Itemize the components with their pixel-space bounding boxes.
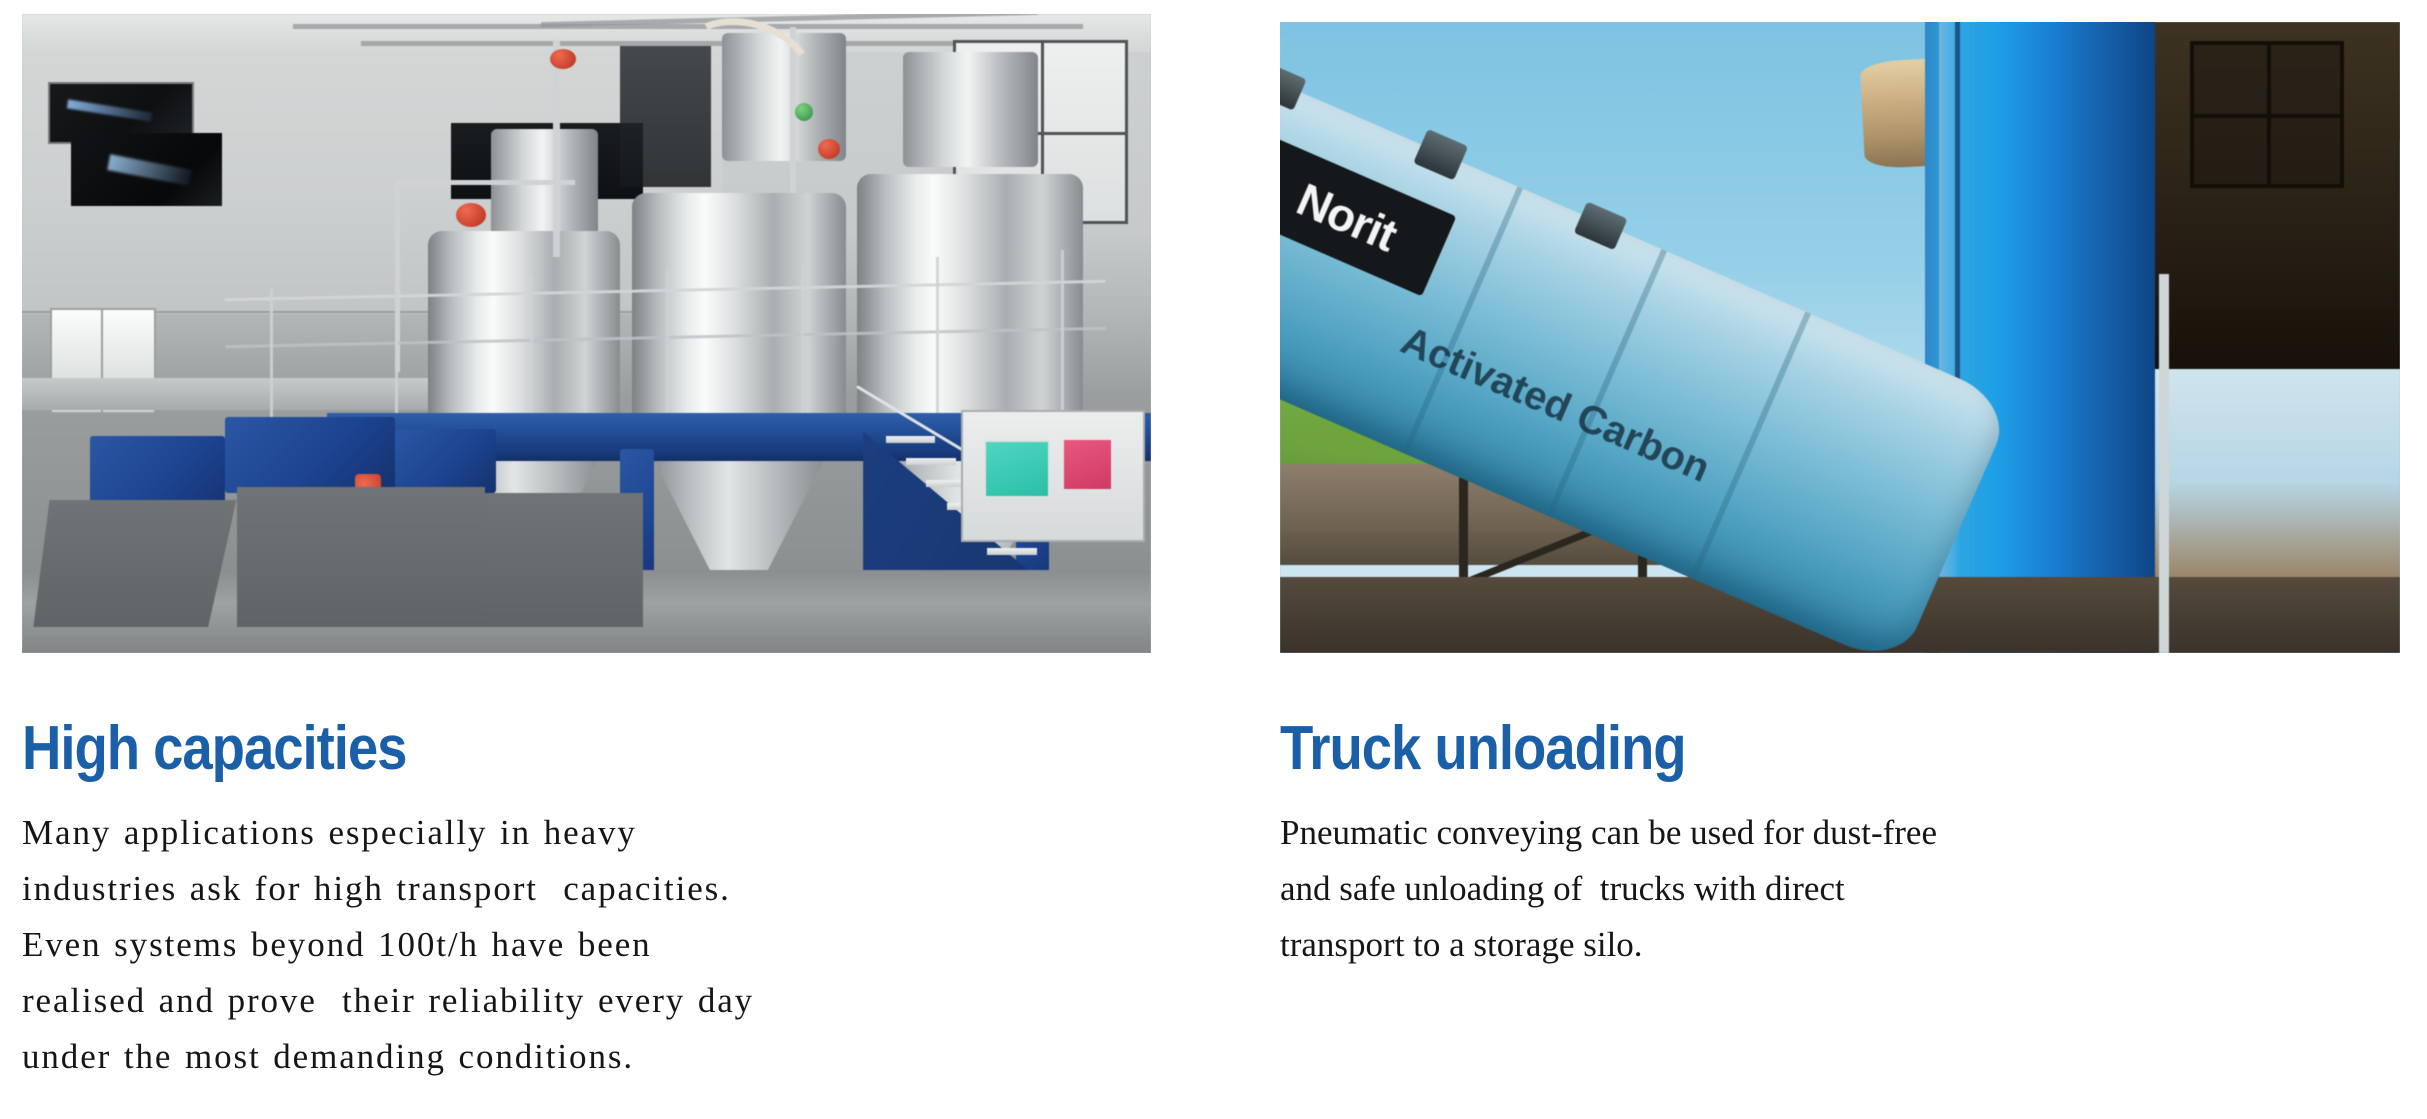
photo-truck-unloading: Norit Activated Carbon (1280, 22, 2400, 653)
railing-post-6 (936, 257, 939, 417)
feature-blocks-page: High capacities Many applications especi… (0, 0, 2427, 1119)
railing-post-2 (395, 282, 398, 423)
paragraph-line: industries ask for high transport capaci… (22, 861, 1082, 917)
floor-hopper-2 (237, 487, 485, 628)
blue-equipment-box-3 (395, 429, 497, 493)
paragraph-line: transport to a storage silo. (1280, 917, 2320, 973)
paragraph-line: realised and prove their reliability eve… (22, 973, 1082, 1029)
paragraph-high-capacities: Many applications especially in heavy in… (22, 805, 1082, 1085)
photo-high-capacities-content (22, 14, 1151, 653)
stair-step-2 (906, 458, 956, 465)
railing-post-1 (270, 289, 273, 430)
floor-hopper-3 (485, 493, 643, 627)
horizontal-pipe-1 (395, 180, 576, 185)
mezzanine-slab (22, 378, 474, 410)
red-valve-1 (456, 203, 486, 227)
railing-post-5 (801, 263, 804, 416)
stair-step-6 (987, 548, 1037, 555)
feature-column-high-capacities: High capacities Many applications especi… (22, 0, 1151, 1119)
photo-high-capacities (22, 14, 1151, 653)
vertical-pipe-1 (553, 40, 560, 257)
railing-post-7 (1061, 250, 1064, 416)
control-panel-red-label (1064, 440, 1111, 489)
grid-window-right (2190, 41, 2344, 188)
photo-truck-unloading-content: Norit Activated Carbon (1280, 22, 2400, 653)
ceiling-beam-1 (293, 24, 1083, 29)
red-valve-3 (818, 139, 840, 159)
railing-post-3 (530, 276, 533, 417)
control-panel (961, 410, 1146, 542)
control-panel-screen (984, 440, 1049, 498)
paragraph-line: under the most demanding conditions. (22, 1029, 1082, 1085)
heading-truck-unloading: Truck unloading (1280, 718, 1686, 780)
top-tank-3 (903, 52, 1038, 167)
paragraph-line: Pneumatic conveying can be used for dust… (1280, 805, 2320, 861)
activated-carbon-text: Activated Carbon (1394, 318, 1716, 491)
paragraph-line: and safe unloading of trucks with direct (1280, 861, 2320, 917)
feature-column-truck-unloading: Norit Activated Carbon Truck unloading P… (1280, 0, 2400, 1119)
paragraph-line: Even systems beyond 100t/h have been (22, 917, 1082, 973)
paragraph-line: Many applications especially in heavy (22, 805, 1082, 861)
floor-hopper-1 (33, 500, 236, 628)
norit-brand-text: Norit (1289, 171, 1404, 261)
paragraph-truck-unloading: Pneumatic conveying can be used for dust… (1280, 805, 2320, 973)
silo-support-pole (2159, 274, 2169, 653)
wall-display-screen-lower (71, 133, 222, 206)
railing-post-4 (666, 270, 669, 417)
heading-high-capacities: High capacities (22, 718, 406, 780)
stair-step-1 (886, 436, 936, 443)
blue-storage-silo (1925, 22, 2155, 653)
